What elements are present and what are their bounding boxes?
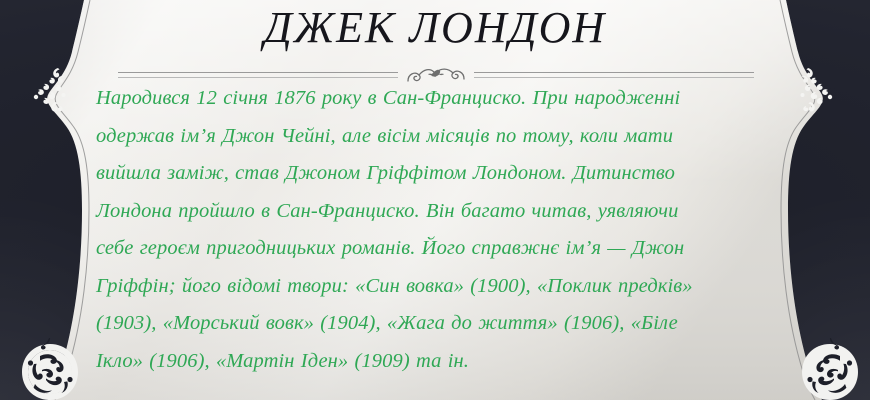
text-line: Гріффін; його відомі твори: «Син вовка» … bbox=[96, 268, 764, 306]
text-line: Ікло» (1906), «Мартін Іден» (1909) та ін… bbox=[96, 343, 764, 381]
text-line: одержав ім’я Джон Чейні, але вісім місяц… bbox=[96, 118, 764, 156]
text-line: вийшла заміж, став Джоном Гріффітом Лонд… bbox=[96, 155, 764, 193]
text-line: (1903), «Морський вовк» (1904), «Жага до… bbox=[96, 305, 764, 343]
text-line: себе героєм пригодницьких романів. Його … bbox=[96, 230, 764, 268]
divider-rule-left bbox=[118, 72, 398, 78]
biography-paragraph: Народився 12 січня 1876 року в Сан-Франц… bbox=[96, 80, 764, 380]
page-title: ДЖЕК ЛОНДОН bbox=[0, 2, 870, 53]
text-line: Народився 12 січня 1876 року в Сан-Франц… bbox=[96, 80, 764, 118]
text-line: Лондона пройшло в Сан-Франциско. Він баг… bbox=[96, 193, 764, 231]
biography-text: Народився 12 січня 1876 року в Сан-Франц… bbox=[96, 80, 764, 380]
slide-canvas: ДЖЕК ЛОНДОН Наро bbox=[0, 0, 870, 400]
divider-rule-right bbox=[474, 72, 754, 78]
slide-content: ДЖЕК ЛОНДОН Наро bbox=[0, 0, 870, 400]
